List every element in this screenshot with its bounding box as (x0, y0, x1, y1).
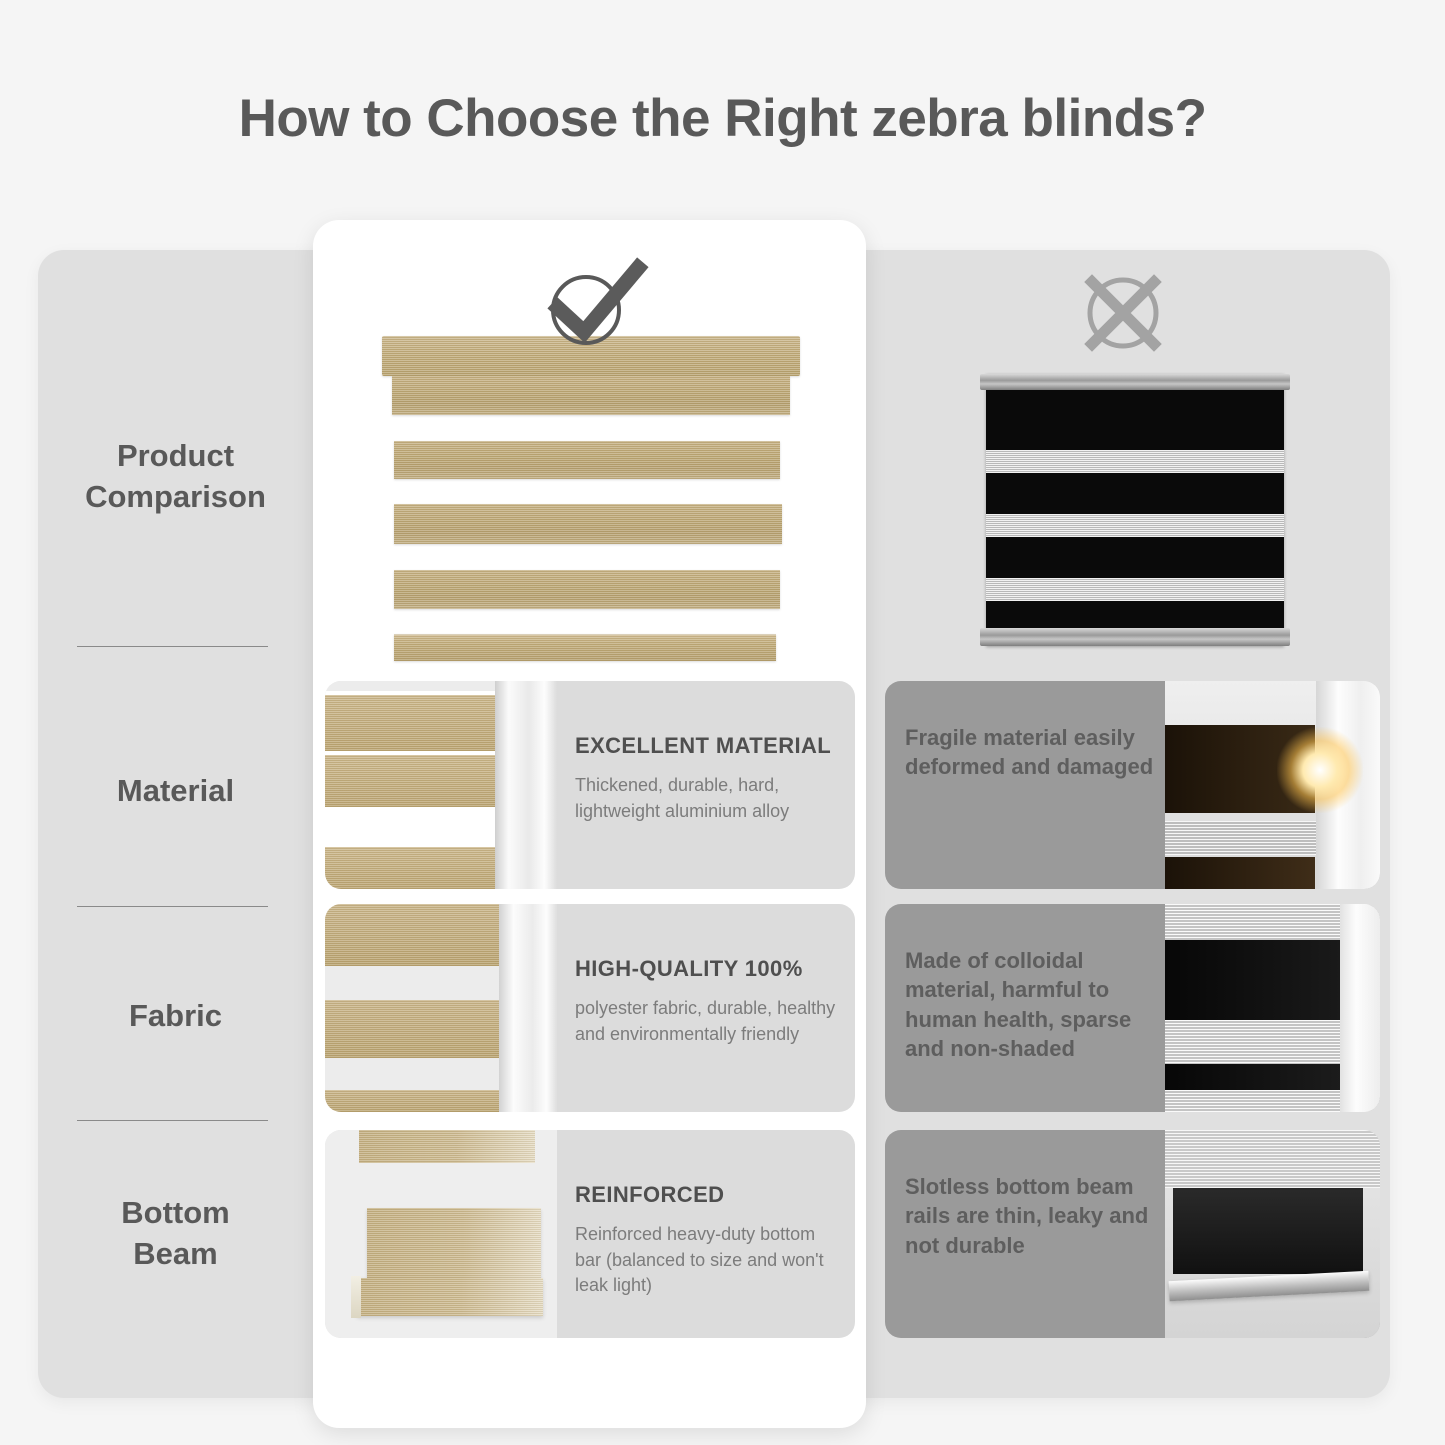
bad-feature-text: Fragile material easily deformed and dam… (885, 681, 1165, 889)
bad-feature-photo-alt: Sunlight leaking through deformed blind … (1165, 681, 1166, 682)
blind-slat (325, 904, 505, 966)
blind-slat (325, 755, 503, 807)
feature-photo: Close-up of beige zebra blind fabric in … (325, 904, 557, 1112)
row-label-line2: Comparison (38, 476, 313, 517)
feature-text: REINFORCED Reinforced heavy-duty bottom … (557, 1130, 855, 1338)
bottom-bar-end-cap (351, 1276, 361, 1318)
dark-blind-area (1165, 940, 1343, 1020)
row-label-product-comparison: Product Comparison (38, 435, 313, 517)
feature-photo-alt: Beige zebra blind installed in white win… (325, 681, 326, 682)
bad-feature-card-bottom-beam: Slotless bottom beam rails are thin, lea… (885, 1130, 1380, 1338)
blind-bottom-bar (394, 634, 776, 661)
bad-hero-alt: Black zebra blind with white sheer bands… (962, 366, 963, 367)
row-label-line1: Bottom (38, 1192, 313, 1233)
row-label-line1: Product (38, 435, 313, 476)
window-frame (499, 904, 557, 1112)
cross-circle-icon (1068, 262, 1178, 364)
blind-sheer-band (986, 450, 1284, 473)
page-title: How to Choose the Right zebra blinds? (0, 88, 1445, 149)
blind-slat (394, 504, 782, 544)
blind-slat (392, 376, 790, 415)
row-divider (77, 906, 268, 907)
dark-blind-area (1173, 1188, 1363, 1274)
good-feature-card-fabric: Close-up of beige zebra blind fabric in … (325, 904, 855, 1112)
blind-slat (325, 695, 503, 751)
bad-feature-card-material: Fragile material easily deformed and dam… (885, 681, 1380, 889)
blind-sheer-band (1165, 821, 1323, 855)
blind-slat (325, 847, 503, 889)
blind-bottom-rail (980, 628, 1290, 646)
bad-feature-text: Slotless bottom beam rails are thin, lea… (885, 1130, 1165, 1338)
blind-slat (367, 1208, 541, 1278)
row-label-material: Material (38, 770, 313, 811)
bad-feature-photo: Thin slotless bottom beam rail on dark b… (1165, 1130, 1380, 1338)
window-frame (495, 681, 557, 889)
good-feature-card-material: Beige zebra blind installed in white win… (325, 681, 855, 889)
feature-body: Thickened, durable, hard, lightweight al… (575, 773, 839, 824)
blind-slat (394, 441, 780, 479)
feature-heading: HIGH-QUALITY 100% (575, 956, 839, 982)
bad-feature-photo: Sunlight leaking through deformed blind … (1165, 681, 1380, 889)
bad-feature-text: Made of colloidal material, harmful to h… (885, 904, 1165, 1112)
blind-top-rail (980, 374, 1290, 390)
feature-photo: Beige zebra blind installed in white win… (325, 681, 557, 889)
good-product-hero-image: Beige zebra blind with headrail and hori… (382, 336, 800, 670)
good-feature-card-bottom-beam: Close-up of reinforced heavy-duty beige … (325, 1130, 855, 1338)
reinforced-bottom-bar (357, 1278, 543, 1316)
row-divider (77, 1120, 268, 1121)
row-label-line1: Material (38, 770, 313, 811)
row-label-fabric: Fabric (38, 995, 313, 1036)
feature-text: EXCELLENT MATERIAL Thickened, durable, h… (557, 681, 855, 889)
blind-sheer-band (1165, 1130, 1380, 1188)
bad-feature-photo: Sparse black blind with translucent band… (1165, 904, 1380, 1112)
bad-feature-card-fabric: Made of colloidal material, harmful to h… (885, 904, 1380, 1112)
blind-slat (394, 570, 780, 609)
blind-sheer-band (986, 514, 1284, 537)
row-label-bottom-beam: Bottom Beam (38, 1192, 313, 1274)
feature-body: Reinforced heavy-duty bottom bar (balanc… (575, 1222, 839, 1299)
dark-blind-area (1165, 1064, 1343, 1090)
row-label-line1: Fabric (38, 995, 313, 1036)
feature-heading: EXCELLENT MATERIAL (575, 733, 839, 759)
blind-slat (359, 1130, 535, 1163)
check-circle-icon (532, 252, 652, 362)
row-label-column: Product Comparison Material Fabric Botto… (38, 250, 313, 1398)
blind-slat (325, 1090, 505, 1112)
window-frame (1340, 904, 1380, 1112)
feature-photo: Close-up of reinforced heavy-duty beige … (325, 1130, 557, 1338)
feature-text: HIGH-QUALITY 100% polyester fabric, dura… (557, 904, 855, 1112)
row-label-line2: Beam (38, 1233, 313, 1274)
feature-body: polyester fabric, durable, healthy and e… (575, 996, 839, 1047)
bad-product-hero-image: Black zebra blind with white sheer bands… (962, 366, 1300, 654)
row-divider (77, 646, 268, 647)
feature-photo-alt: Close-up of reinforced heavy-duty beige … (325, 1130, 326, 1131)
blind-sheer-band (986, 578, 1284, 601)
feature-heading: REINFORCED (575, 1182, 839, 1208)
black-blind-body (986, 374, 1284, 646)
blind-slat (325, 1000, 505, 1058)
sun-flare-icon (1277, 727, 1363, 813)
dark-blind-area (1165, 857, 1315, 889)
thin-bottom-rail (1169, 1271, 1370, 1301)
